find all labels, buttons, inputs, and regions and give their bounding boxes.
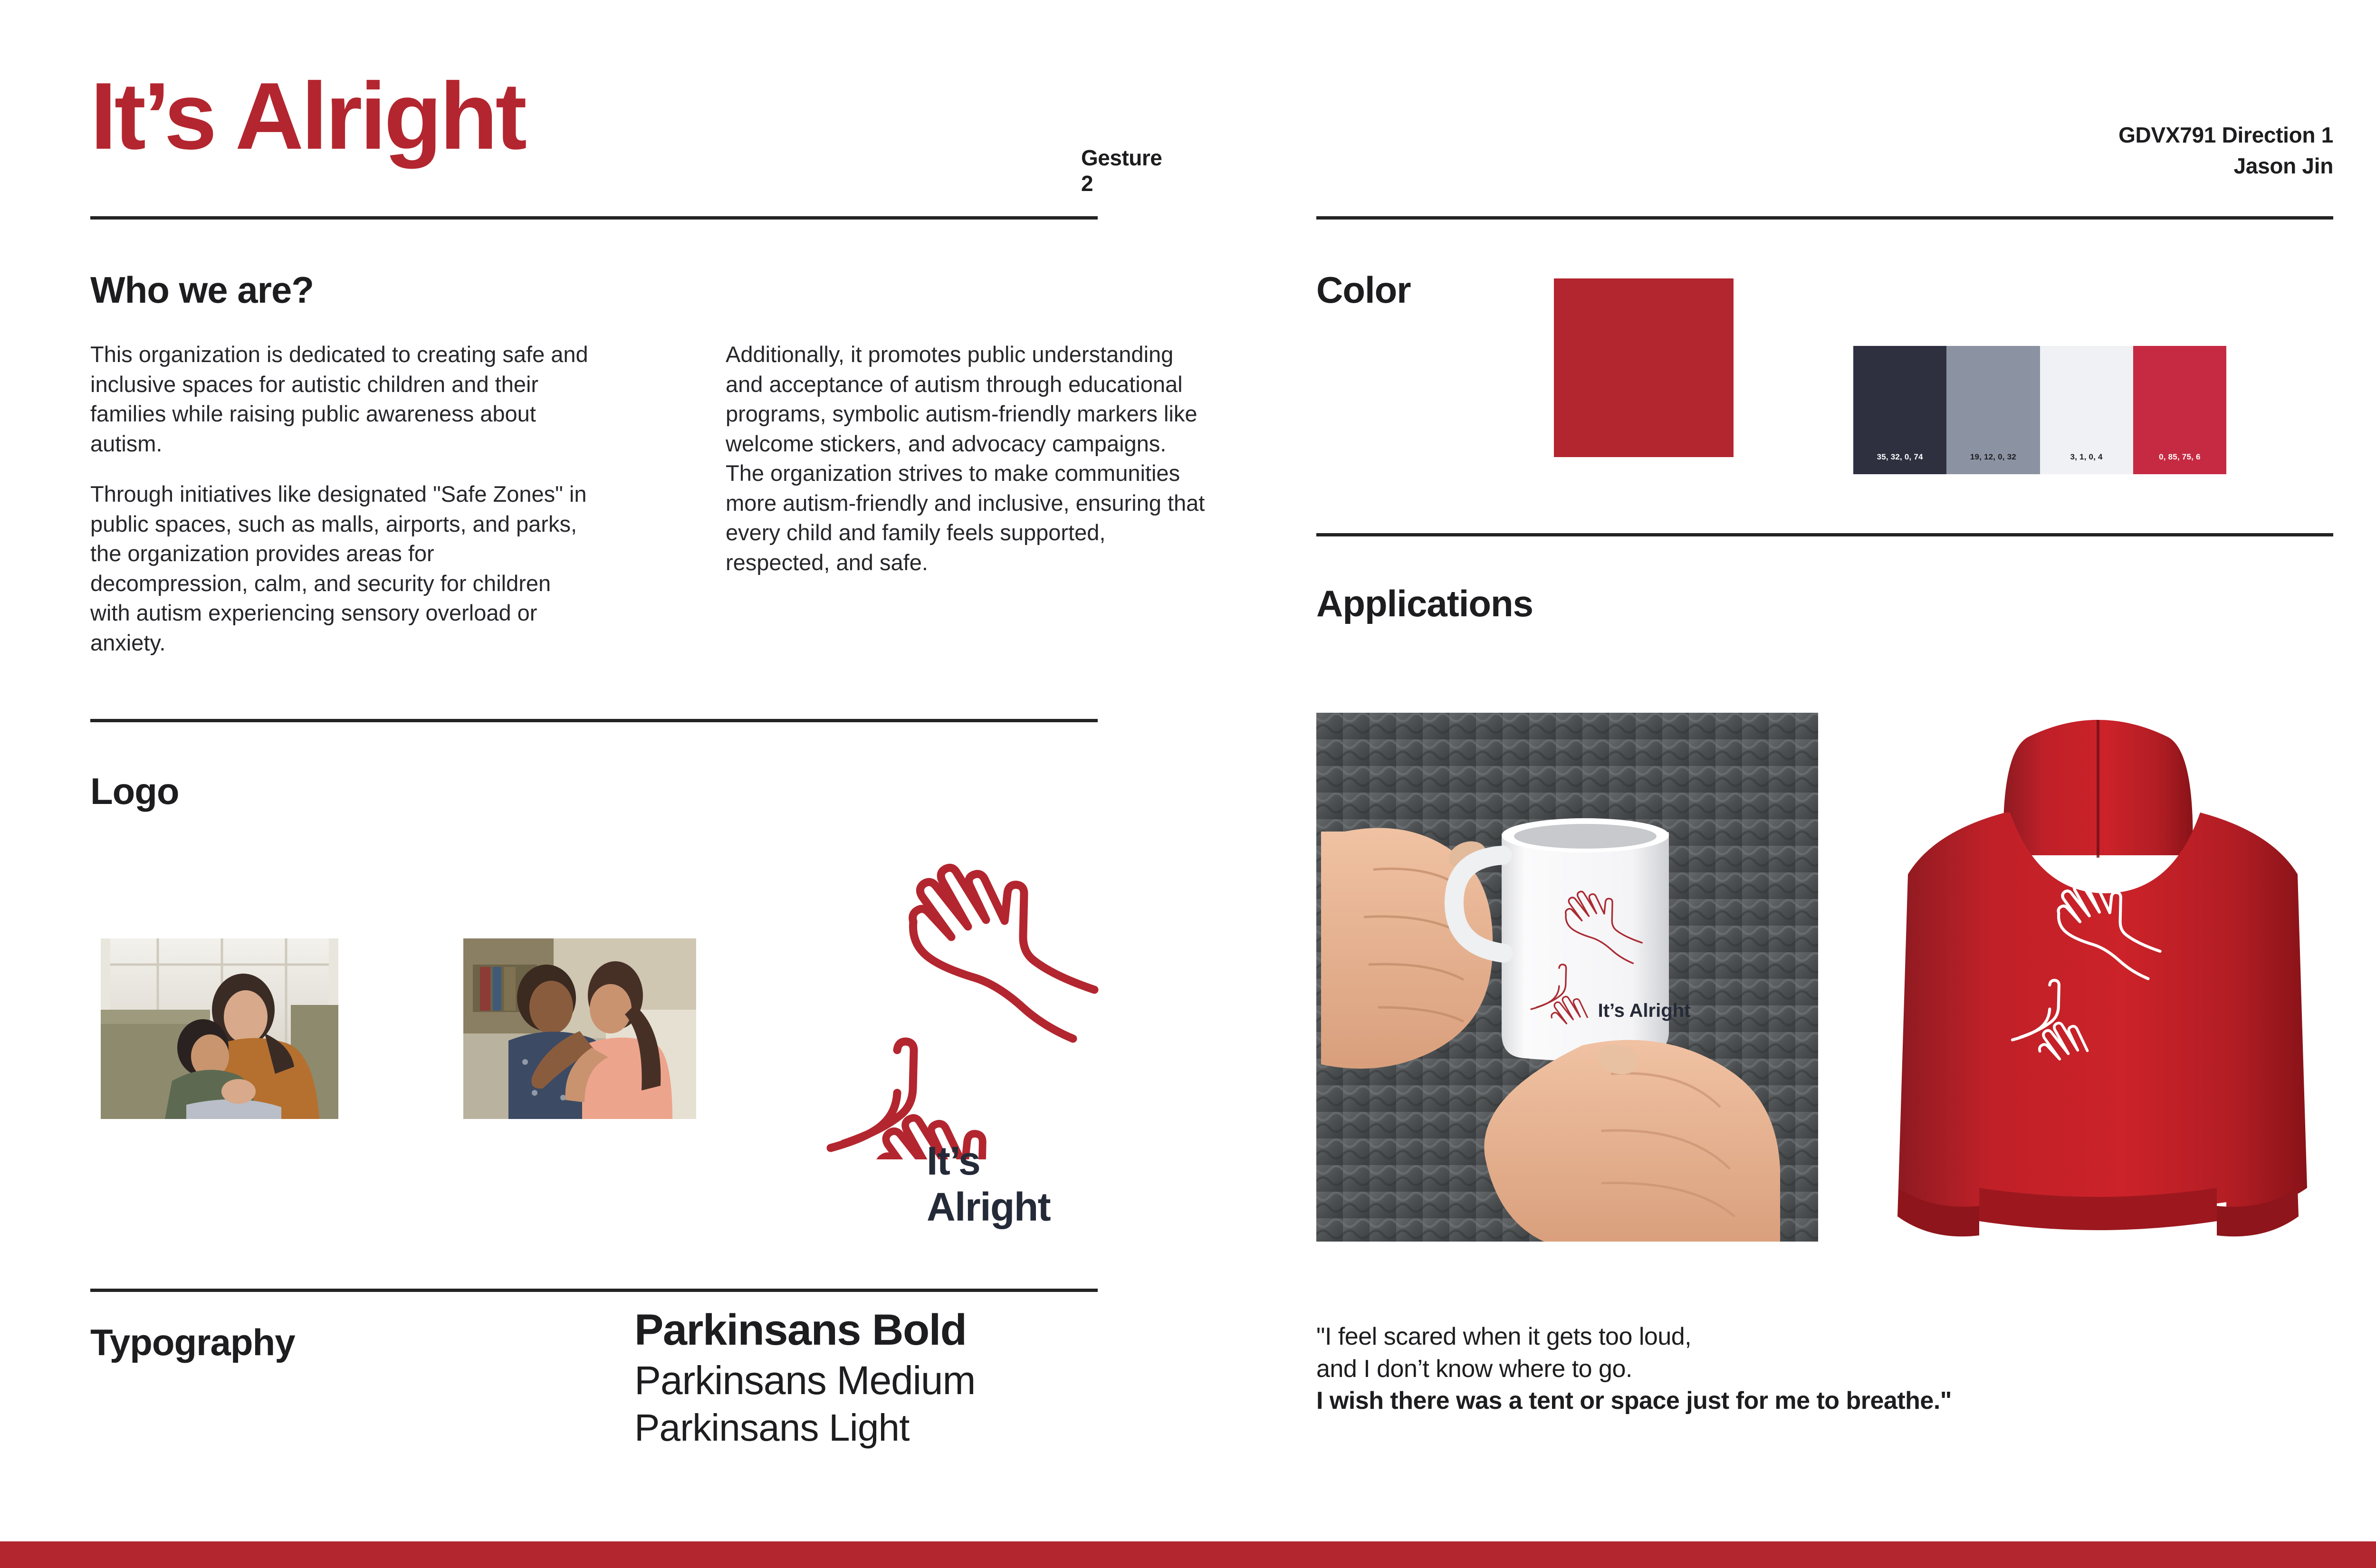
- application-mug-photo: It’s Alright: [1316, 713, 1818, 1242]
- course-code: GDVX791 Direction 1: [2118, 120, 2333, 151]
- mug-wordmark: It’s Alright: [1598, 1000, 1691, 1021]
- quote-line-2: and I don’t know where to go.: [1316, 1353, 2333, 1386]
- right-column: GDVX791 Direction 1 Jason Jin Color 35, …: [1316, 0, 2333, 1568]
- applications-heading: Applications: [1316, 582, 1533, 625]
- who-paragraph-1: This organization is dedicated to creati…: [90, 340, 594, 459]
- gesture-label: Gesture 2: [1081, 145, 1162, 196]
- divider-typography: [90, 1289, 1098, 1292]
- application-hoodie-photo: [1863, 703, 2333, 1245]
- color-swatch-2-cmyk: 19, 12, 0, 32: [1946, 452, 2040, 462]
- who-paragraph-2: Through initiatives like designated "Saf…: [90, 479, 594, 658]
- who-paragraph-3: Additionally, it promotes public underst…: [726, 340, 1206, 577]
- quote-line-3: I wish there was a tent or space just fo…: [1316, 1385, 2333, 1417]
- color-swatch-3-cmyk: 3, 1, 0, 4: [2040, 452, 2133, 462]
- logo-photo-grandmother-girl: [463, 938, 696, 1119]
- quote-line-1: "I feel scared when it gets too loud,: [1316, 1321, 2333, 1353]
- typeface-sample-light: Parkinsans Light: [634, 1405, 975, 1451]
- divider-logo: [90, 719, 1098, 722]
- typography-samples: Parkinsans Bold Parkinsans Medium Parkin…: [634, 1304, 975, 1451]
- typeface-sample-bold: Parkinsans Bold: [634, 1304, 975, 1356]
- footer-accent-bar: [0, 1541, 2376, 1568]
- page-title: It’s Alright: [90, 69, 525, 164]
- color-swatch-1-cmyk: 35, 32, 0, 74: [1853, 452, 1946, 462]
- color-heading: Color: [1316, 268, 1411, 312]
- who-we-are-heading: Who we are?: [90, 268, 314, 312]
- who-we-are-column-left: This organization is dedicated to creati…: [90, 340, 594, 658]
- typography-heading: Typography: [90, 1321, 295, 1364]
- divider-header: [90, 216, 1098, 220]
- document-meta: GDVX791 Direction 1 Jason Jin: [2118, 120, 2333, 182]
- color-swatch-3: 3, 1, 0, 4: [2040, 346, 2133, 474]
- color-swatch-4-cmyk: 0, 85, 75, 6: [2133, 452, 2226, 462]
- logo-photo-mother-child: [101, 938, 338, 1119]
- who-we-are-column-right: Additionally, it promotes public underst…: [726, 340, 1206, 577]
- color-swatch-primary: [1554, 278, 1734, 457]
- author-name: Jason Jin: [2118, 151, 2333, 182]
- divider-applications: [1316, 533, 2333, 536]
- color-swatch-1: 35, 32, 0, 74: [1853, 346, 1946, 474]
- color-palette: 35, 32, 0, 74 19, 12, 0, 32 3, 1, 0, 4 0…: [1853, 346, 2226, 474]
- logo-heading: Logo: [90, 770, 179, 813]
- left-column: It’s Alright Gesture 2 Who we are? This …: [90, 0, 1102, 1568]
- application-quote: "I feel scared when it gets too loud, an…: [1316, 1321, 2333, 1417]
- color-swatch-2: 19, 12, 0, 32: [1946, 346, 2040, 474]
- hands-logo-icon: [808, 827, 1131, 1159]
- logo-wordmark: It’s Alright: [927, 1138, 1102, 1230]
- divider-color: [1316, 216, 2333, 220]
- color-swatch-4: 0, 85, 75, 6: [2133, 346, 2226, 474]
- typeface-sample-medium: Parkinsans Medium: [634, 1356, 975, 1405]
